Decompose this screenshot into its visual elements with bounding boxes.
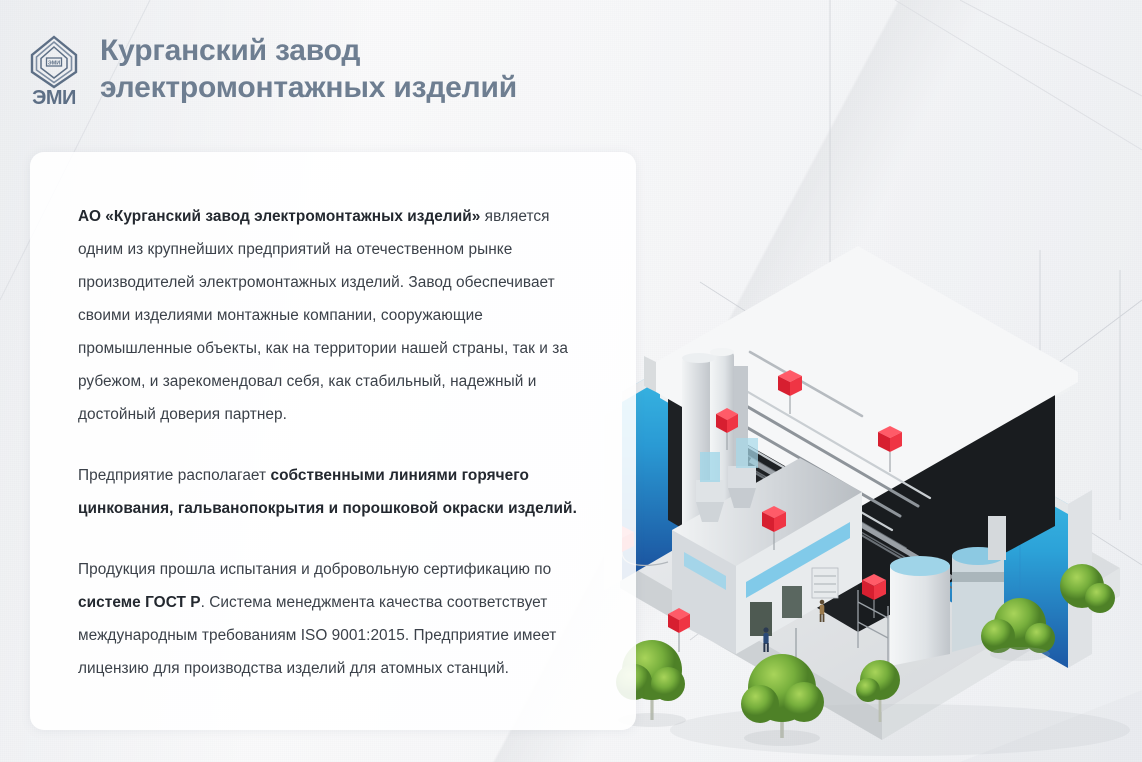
certification-lead: Продукция прошла испытания и добровольну… <box>78 561 551 578</box>
gost-standard-highlight: системе ГОСТ Р <box>78 594 201 611</box>
paragraph-about-rest: является одним из крупнейших предприятий… <box>78 208 568 423</box>
logo-letters: ЭМИ <box>32 87 76 106</box>
page-title-line-2: электромонтажных изделий <box>100 70 517 107</box>
paragraph-production-lines: Предприятие располагает собственными лин… <box>78 459 592 525</box>
logo-inner-mark: ЭМИ <box>48 61 60 67</box>
page-title-line-1: Курганский завод <box>100 33 517 70</box>
page-header: ЭМИ ЭМИ Курганский завод электромонтажны… <box>0 0 1142 140</box>
zmi-diamond-logo-icon: ЭМИ ЭМИ <box>28 34 80 106</box>
production-lines-lead: Предприятие располагает <box>78 467 270 484</box>
company-legal-name: АО «Курганский завод электромонтажных из… <box>78 208 480 225</box>
isometric-factory-illustration <box>600 230 1142 762</box>
page-title: Курганский завод электромонтажных издели… <box>100 33 517 106</box>
paragraph-about: АО «Курганский завод электромонтажных из… <box>78 200 592 431</box>
company-description-card: АО «Курганский завод электромонтажных из… <box>30 152 636 730</box>
paragraph-certification: Продукция прошла испытания и добровольну… <box>78 553 592 685</box>
